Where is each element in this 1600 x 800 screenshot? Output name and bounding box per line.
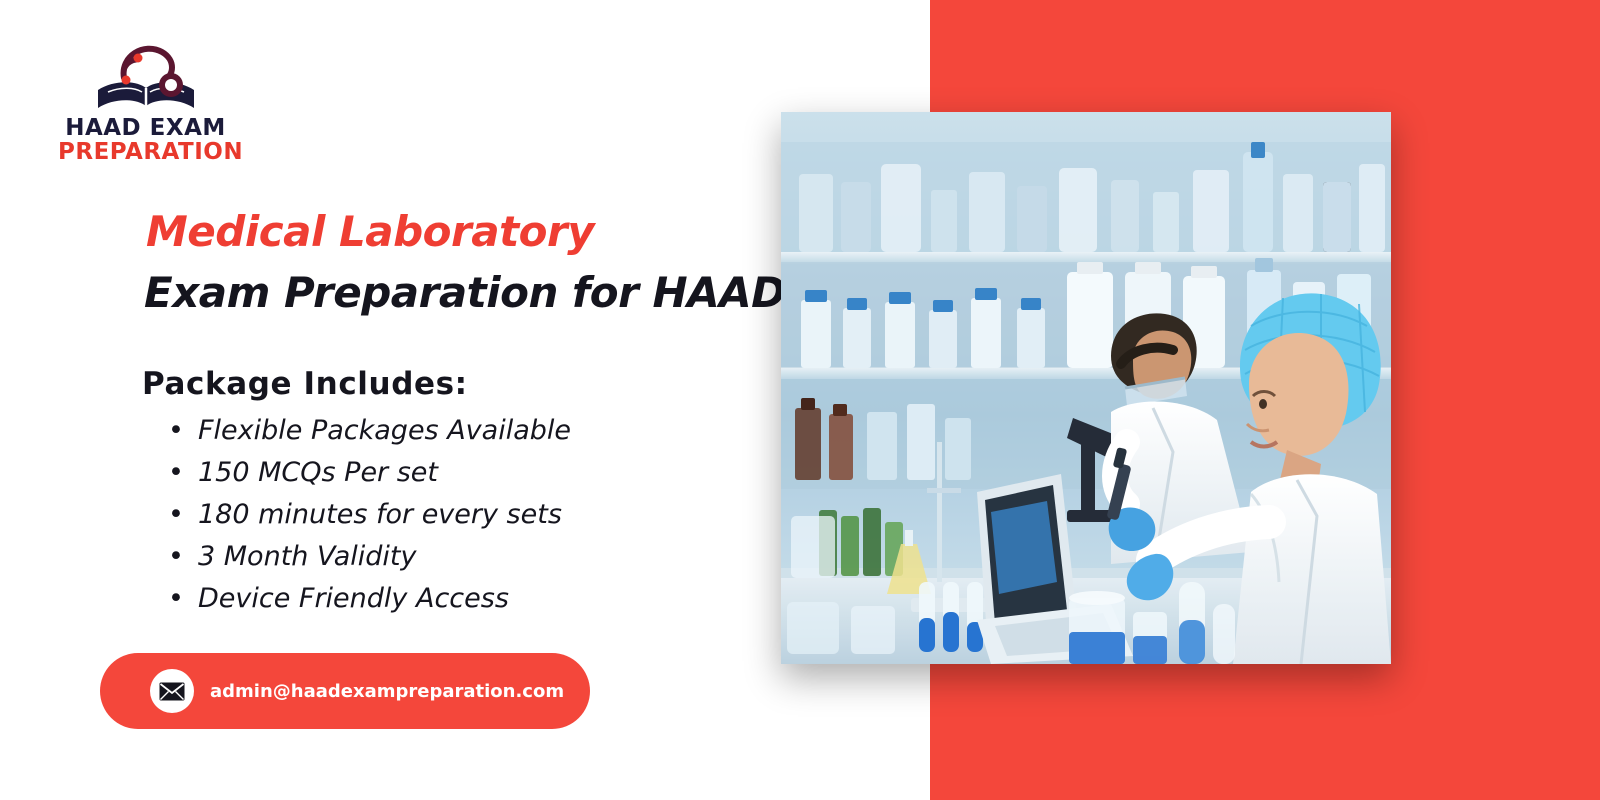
- brand-logo[interactable]: HAAD EXAM PREPARATION: [58, 28, 233, 158]
- lab-photo: [781, 112, 1391, 664]
- promo-banner: HAAD EXAM PREPARATION Medical Laboratory…: [0, 0, 1600, 800]
- list-item: 3 Month Validity: [160, 536, 571, 578]
- list-item: 150 MCQs Per set: [160, 452, 571, 494]
- package-title: Package Includes:: [142, 366, 468, 402]
- contact-email-pill[interactable]: admin@haadexampreparation.com: [100, 653, 590, 729]
- logo-line-2: PREPARATION: [58, 140, 233, 164]
- lab-photo-illustration: [781, 112, 1391, 664]
- package-feature-list: Flexible Packages Available 150 MCQs Per…: [160, 410, 571, 620]
- envelope-icon: [150, 669, 194, 713]
- list-item: 180 minutes for every sets: [160, 494, 571, 536]
- contact-email-text: admin@haadexampreparation.com: [210, 681, 564, 702]
- stethoscope-book-icon: [58, 28, 233, 118]
- list-item: Device Friendly Access: [160, 578, 571, 620]
- list-item: Flexible Packages Available: [160, 410, 571, 452]
- logo-line-1: HAAD EXAM: [58, 116, 233, 140]
- headline-secondary: Exam Preparation for HAAD: [144, 268, 786, 317]
- headline-primary: Medical Laboratory: [146, 207, 594, 256]
